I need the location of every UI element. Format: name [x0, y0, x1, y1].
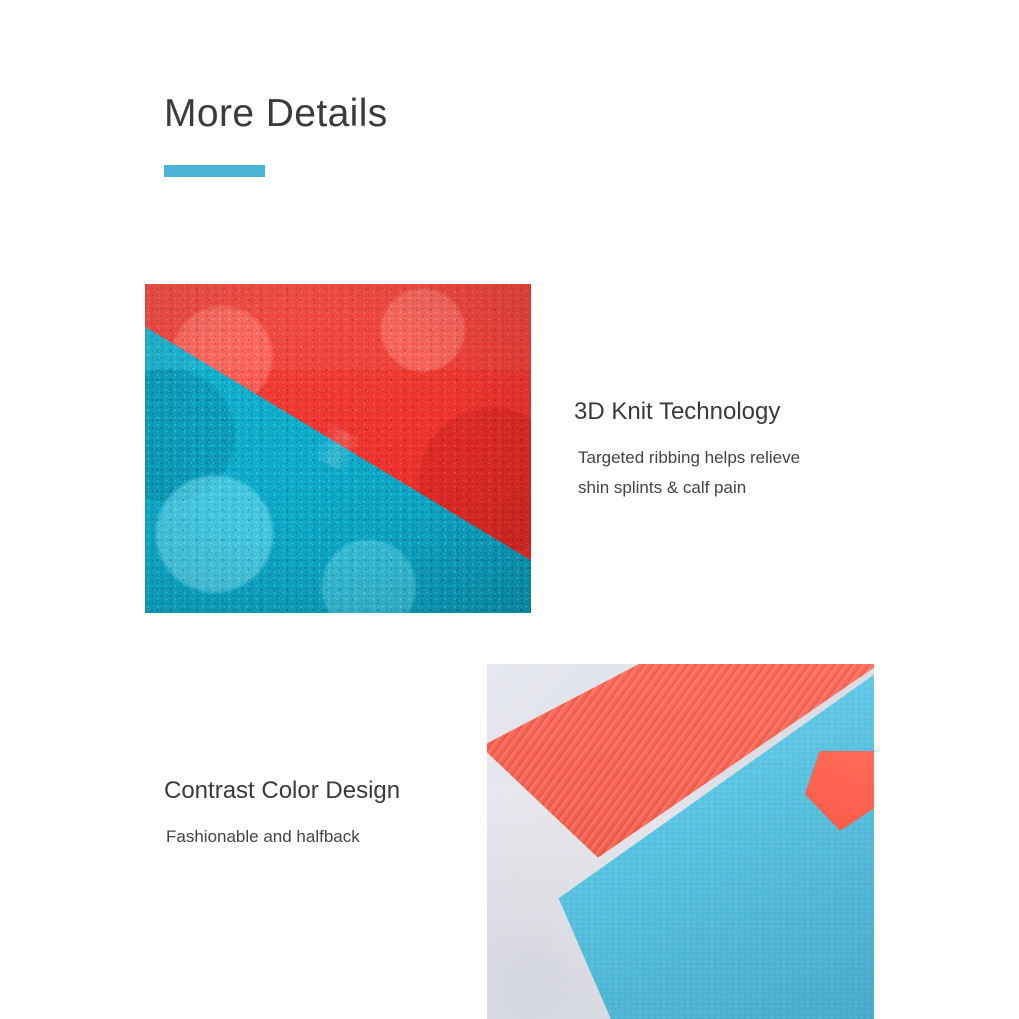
feature-body-line: Targeted ribbing helps relieve [578, 443, 800, 473]
product-detail-page: More Details 3D Knit Technology Targeted… [0, 0, 1019, 1019]
feature-body-line: shin splints & calf pain [578, 473, 800, 503]
feature-heading-knit-technology: 3D Knit Technology [574, 398, 800, 427]
knit-fabric-macro-photo [145, 284, 531, 613]
section-header: More Details [164, 92, 664, 137]
page-title: More Details [164, 92, 664, 137]
feature-body-contrast-color-design: Fashionable and halfback [164, 822, 400, 852]
feature-heading-contrast-color-design: Contrast Color Design [164, 777, 400, 806]
feature-contrast-color-text: Contrast Color Design Fashionable and ha… [164, 777, 400, 852]
title-accent-bar [164, 165, 265, 177]
feature-body-knit-technology: Targeted ribbing helps relieve shin spli… [574, 443, 800, 504]
knit-photo-vignette [145, 284, 531, 613]
contrast-sock-photo [487, 664, 874, 1019]
feature-knit-technology-text: 3D Knit Technology Targeted ribbing help… [574, 398, 800, 503]
feature-body-line: Fashionable and halfback [166, 822, 400, 852]
